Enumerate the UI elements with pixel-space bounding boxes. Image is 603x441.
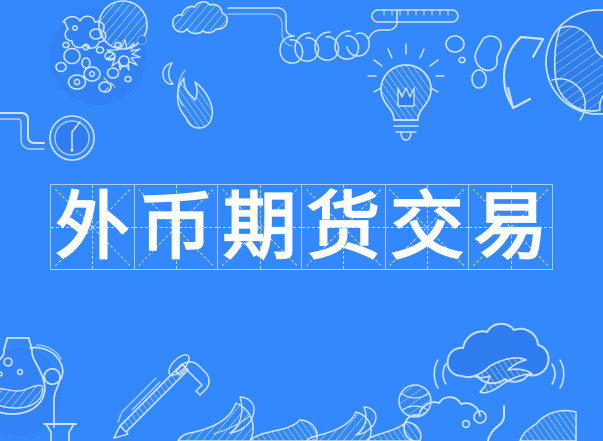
grid-cell-1: 外	[51, 185, 135, 269]
poster-canvas: 外 币 期 货 交	[0, 0, 603, 441]
small-cloud-icon	[404, 397, 486, 441]
cloud-icon	[173, 2, 227, 34]
title-character: 期	[218, 185, 301, 269]
title-character: 外	[51, 185, 134, 269]
cloud-lightning-icon	[434, 324, 564, 441]
grid-cell-5: 交	[386, 185, 470, 269]
fountain-pen-icon	[114, 352, 209, 438]
ruler-icon	[372, 10, 458, 22]
curved-arrow-icon	[504, 37, 543, 108]
grid-cell-6: 易	[469, 185, 552, 269]
lightbulb-icon	[368, 44, 444, 140]
hatched-sphere-icon	[399, 385, 431, 417]
test-tube-icon	[44, 424, 76, 441]
title-character: 易	[469, 185, 552, 269]
clock-gauge-icon	[50, 116, 94, 160]
grid-cell-2: 币	[135, 185, 219, 269]
grid-cell-3: 期	[218, 185, 302, 269]
title-character: 交	[386, 185, 469, 269]
flame-leaves-icon	[178, 397, 421, 441]
grid-cell-4: 货	[302, 185, 386, 269]
petri-dish-microbes-icon	[50, 1, 147, 105]
flame-icon	[163, 63, 212, 128]
lab-flask-icon	[0, 338, 63, 436]
title-character: 货	[302, 185, 385, 269]
bottom-right-shape-icon	[520, 411, 576, 441]
coil-spring-wire-icon	[228, 8, 397, 63]
title-character-grid: 外 币 期 货 交	[50, 184, 553, 270]
title-character: 币	[135, 185, 218, 269]
wire-cable-icon	[0, 113, 44, 149]
globe-earth-icon	[546, 10, 603, 120]
blob-splash-icon	[446, 36, 501, 88]
